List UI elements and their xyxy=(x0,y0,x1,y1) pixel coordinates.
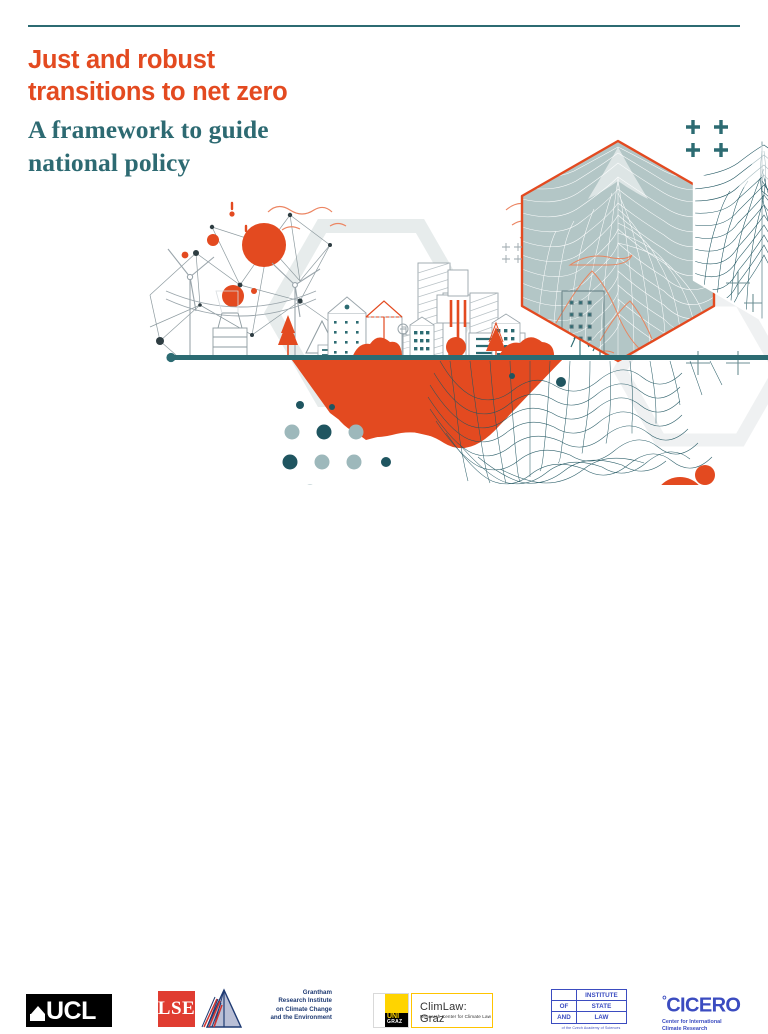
isl-row: OF STATE xyxy=(552,1001,627,1012)
apartment-block xyxy=(410,317,434,358)
grantham-line-3: on Climate Change xyxy=(248,1006,332,1014)
cicero-wordmark-text: CICERO xyxy=(666,995,740,1017)
net-zero-city-and-mountain-illustration xyxy=(0,95,768,485)
cicero-subtitle-line-1: Center for International xyxy=(662,1019,768,1026)
isl-row: AND LAW xyxy=(552,1012,627,1023)
cicero-subtitle: Center for International Climate Researc… xyxy=(662,1019,768,1033)
climlaw-title: ClimLaw: Graz xyxy=(420,1001,492,1025)
logo-lse[interactable]: LSE xyxy=(158,991,195,1027)
report-cover: Just and robust transitions to net zero … xyxy=(0,0,768,561)
grantham-mountain-icon xyxy=(200,987,246,1029)
orange-circles-upper xyxy=(182,211,286,307)
isl-row: INSTITUTE xyxy=(552,990,627,1001)
ucl-portico-icon xyxy=(31,1006,45,1014)
grantham-line-2: Research Institute xyxy=(248,997,332,1005)
uni-graz-mark: UNI GRAZ xyxy=(373,993,409,1028)
logo-grantham-text: Grantham Research Institute on Climate C… xyxy=(248,989,332,1023)
isl-cell-0-0 xyxy=(552,990,577,1001)
isl-footnote: of the Czech Academy of Sciences xyxy=(551,1026,631,1030)
top-rule-divider xyxy=(28,25,740,27)
uni-graz-line-2: GRAZ xyxy=(387,1020,402,1025)
plus-marks-bold xyxy=(686,120,728,157)
grantham-line-1: Grantham xyxy=(248,989,332,997)
isl-cell-1-0: OF xyxy=(552,1001,577,1012)
cicero-wordmark: °CICERO xyxy=(662,990,768,1017)
uni-graz-line-1: UNI xyxy=(387,1013,399,1020)
plus-marks-small xyxy=(502,243,522,263)
ucl-portico-base-icon xyxy=(30,1014,45,1021)
orange-ticks xyxy=(232,203,246,231)
isl-cell-0-1: INSTITUTE xyxy=(576,990,626,1001)
isl-cell-2-1: LAW xyxy=(576,1012,626,1023)
logo-lse-text: LSE xyxy=(158,991,195,1027)
isl-cell-2-0: AND xyxy=(552,1012,577,1023)
title-line-1: Just and robust xyxy=(28,44,448,76)
isl-cell-1-1: STATE xyxy=(576,1001,626,1012)
cicero-subtitle-line-2: Climate Research xyxy=(662,1026,768,1033)
isl-grid: INSTITUTE OF STATE AND LAW xyxy=(551,989,627,1024)
logo-ucl-text: UCL xyxy=(46,997,96,1025)
climlaw-subtitle: Research Center for Climate Law xyxy=(420,1014,491,1019)
industrial-block xyxy=(213,313,247,358)
logo-institute-of-state-and-law[interactable]: INSTITUTE OF STATE AND LAW of the Czech … xyxy=(551,989,631,1029)
partner-logo-bar: UCL LSE Grantham Research Institute xyxy=(0,490,768,552)
orange-circles-lower xyxy=(654,465,751,485)
climlaw-box: ClimLaw: Graz Research Center for Climat… xyxy=(411,993,493,1028)
logo-grantham-research-institute[interactable]: Grantham Research Institute on Climate C… xyxy=(200,987,330,1031)
logo-cicero[interactable]: °CICERO Center for International Climate… xyxy=(662,990,768,1028)
logo-ucl[interactable]: UCL xyxy=(26,994,112,1027)
logo-climlaw-graz[interactable]: UNI GRAZ ClimLaw: Graz Research Center f… xyxy=(373,993,491,1026)
grantham-line-4: and the Environment xyxy=(248,1014,332,1022)
hexagon-mountain-wireframe xyxy=(520,139,718,364)
